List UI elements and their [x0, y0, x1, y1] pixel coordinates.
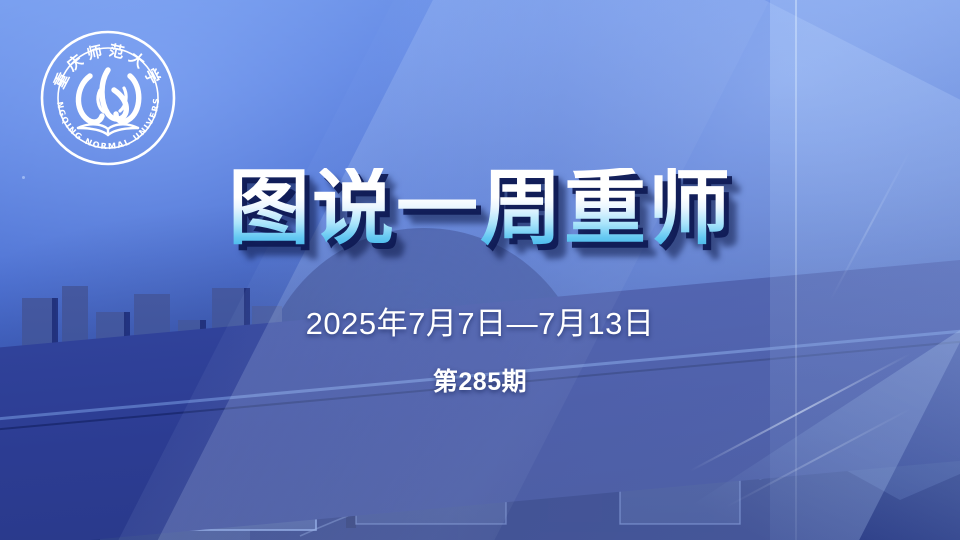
university-logo: 重庆师范大学 CHONGQING NORMAL UNIVERSITY: [38, 28, 178, 168]
title-block: 图说一周重师: [0, 168, 960, 250]
issue-number-text: 第285期: [0, 362, 960, 398]
page-title: 图说一周重师: [228, 168, 732, 250]
date-range-text: 2025年7月7日—7月13日: [0, 298, 960, 343]
slide-canvas: 重庆师范大学 CHONGQING NORMAL UNIVERSITY 图说一周重…: [0, 0, 960, 540]
